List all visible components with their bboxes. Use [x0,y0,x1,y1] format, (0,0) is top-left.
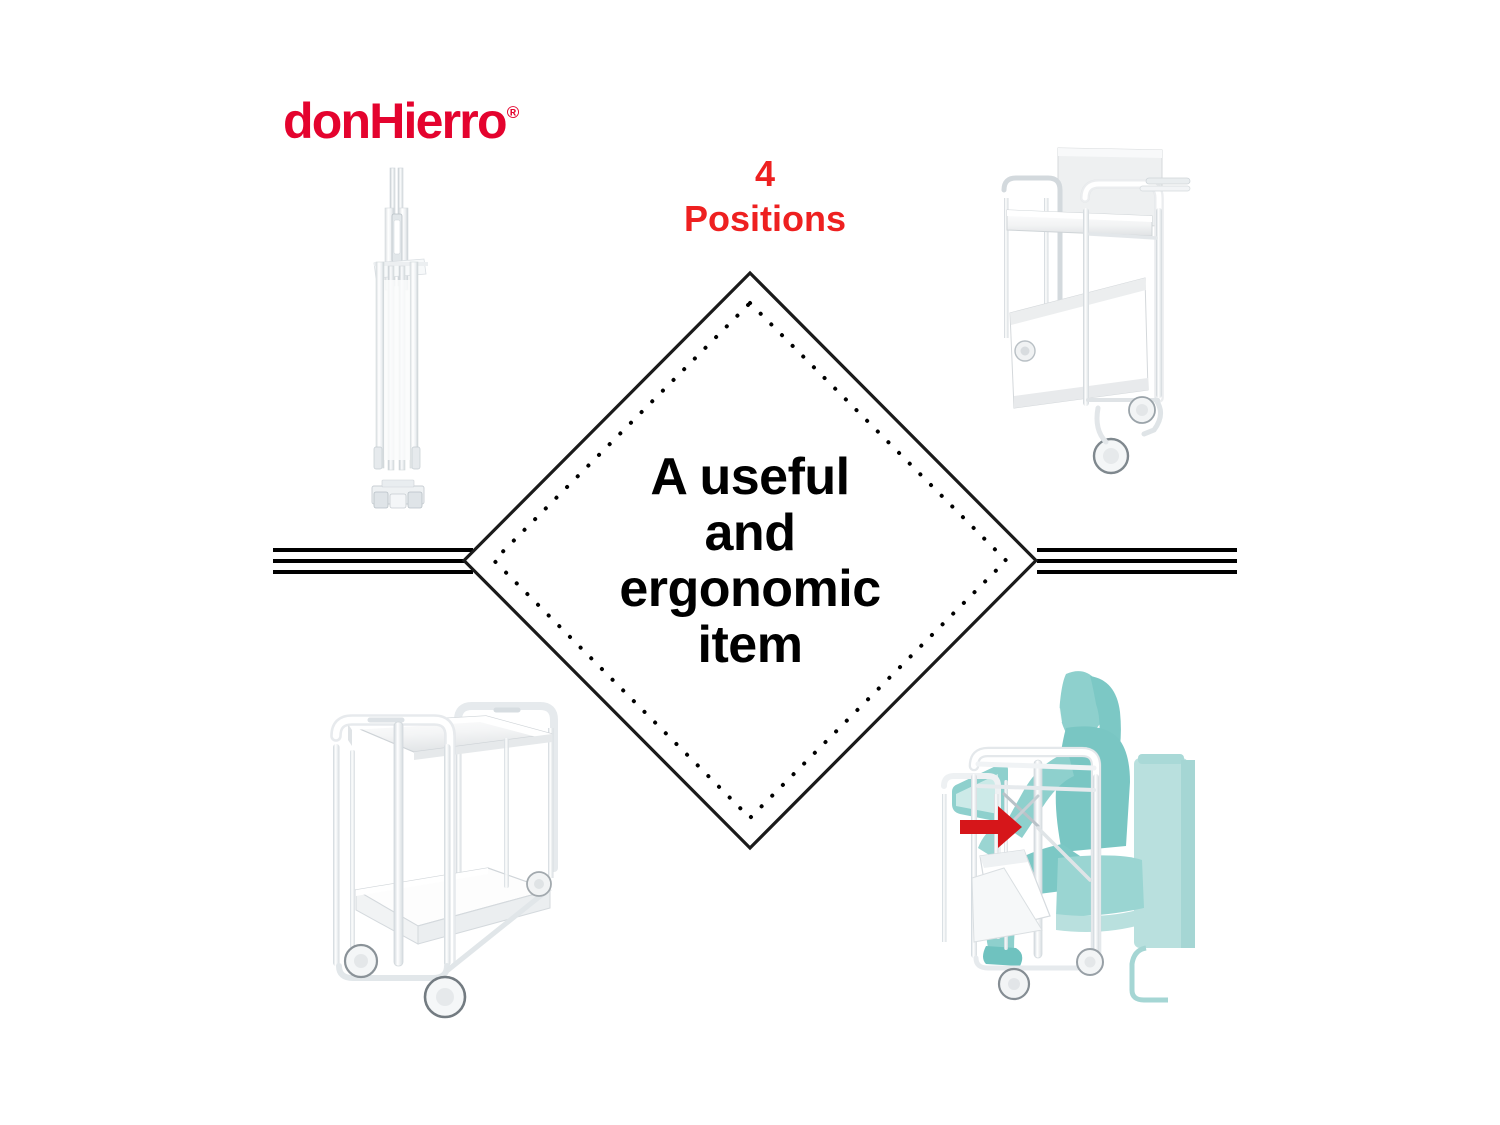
triple-rule-left [273,548,473,578]
castor-wheel [1129,397,1155,423]
diamond-text-line: item [570,617,930,673]
logo-wordmark: donHierro [283,96,506,146]
product-photo-ergonomic-use [938,668,1223,1023]
slide-canvas: donHierro® 4 Positions A useful and ergo… [0,0,1500,1125]
castor-wheel [425,977,465,1017]
rule-line [273,548,473,552]
castor-wheel [1015,341,1035,361]
castor-wheel [527,872,551,896]
castor-wheel [345,945,377,977]
product-photo-folded-trolley [338,162,468,522]
castor-wheel [999,969,1029,999]
registered-trademark-icon: ® [507,104,520,121]
rule-line [273,559,473,563]
positions-count: 4 [620,152,910,197]
rule-line [1037,570,1237,574]
rule-line [273,570,473,574]
rule-line [1037,559,1237,563]
triple-rule-right [1037,548,1237,578]
product-photo-open-trolley [308,678,583,1023]
product-photo-semi-folded-trolley [980,138,1200,483]
diamond-text-line: A useful [570,449,930,505]
positions-heading: 4 Positions [620,152,910,241]
positions-word: Positions [620,197,910,242]
donhierro-logo: donHierro® [283,96,553,150]
castor-wheel [1077,949,1103,975]
diamond-text-line: ergonomic [570,561,930,617]
castor-wheel [1094,439,1128,473]
rule-line [1037,548,1237,552]
diamond-text-line: and [570,505,930,561]
diamond-text-block: A useful and ergonomic item [570,449,930,674]
